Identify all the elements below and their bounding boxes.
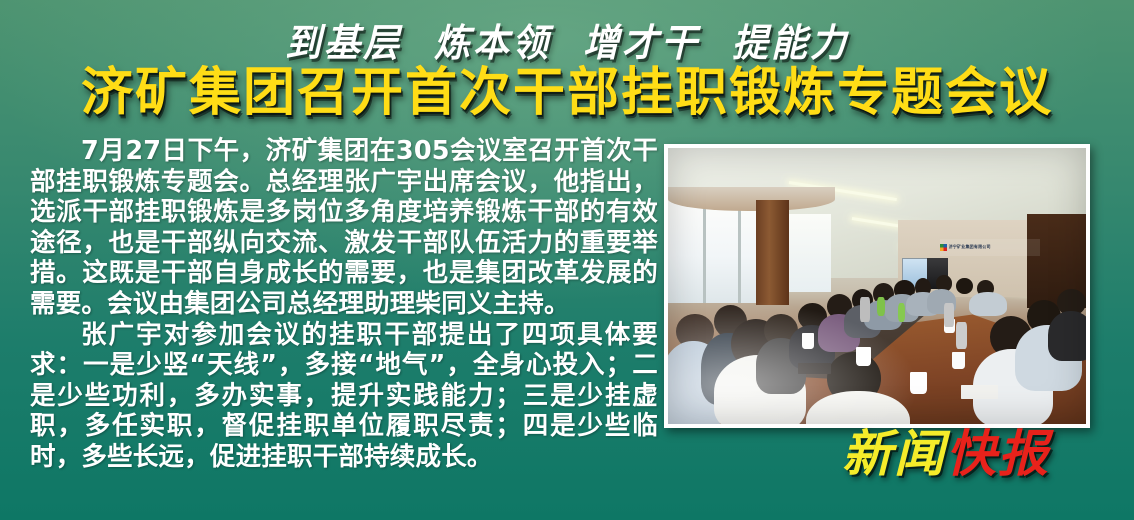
news-flash-stamp: 新闻快报 [842, 428, 1050, 480]
photo-company-sign: 济宁矿业集团有限公司 [940, 239, 1040, 256]
page-title: 济矿集团召开首次干部挂职锻炼专题会议 [0, 64, 1134, 122]
photo-cup [952, 352, 965, 369]
photo-thermos [944, 303, 954, 328]
company-sign-label: 济宁矿业集团有限公司 [949, 244, 991, 250]
photo-thermos [956, 322, 967, 350]
photo-notebook [961, 385, 999, 399]
photo-attendee [1048, 311, 1086, 361]
slogan-segment-2: 炼本领 [434, 12, 551, 67]
article-paragraph-1: 7月27日下午，济矿集团在305会议室召开首次干部挂职锻炼专题会。总经理张广宇出… [30, 136, 658, 320]
photo-attendee [969, 292, 1007, 317]
article-body: 7月27日下午，济矿集团在305会议室召开首次干部挂职锻炼专题会。总经理张广宇出… [30, 136, 658, 473]
slogan-segment-3: 增才干 [583, 12, 700, 67]
photo-wood-column [756, 200, 789, 305]
slogan-segment-4: 提能力 [732, 12, 849, 67]
news-poster: 到基层炼本领增才干提能力 济矿集团召开首次干部挂职锻炼专题会议 7月27日下午，… [0, 0, 1134, 520]
photo-window [668, 198, 760, 303]
news-flash-stamp-second: 快报 [946, 425, 1050, 483]
meeting-photo-frame: 济宁矿业集团有限公司 [664, 144, 1090, 428]
meeting-photo: 济宁矿业集团有限公司 [668, 148, 1086, 424]
company-logo-icon [940, 244, 947, 251]
news-flash-stamp-first: 新闻 [842, 425, 946, 483]
photo-highlight [668, 300, 919, 424]
article-paragraph-2: 张广宇对参加会议的挂职干部提出了四项具体要求：一是少竖“天线”，多接“地气”，全… [30, 320, 658, 473]
slogan-line: 到基层炼本领增才干提能力 [0, 12, 1134, 67]
slogan-segment-1: 到基层 [285, 12, 402, 67]
